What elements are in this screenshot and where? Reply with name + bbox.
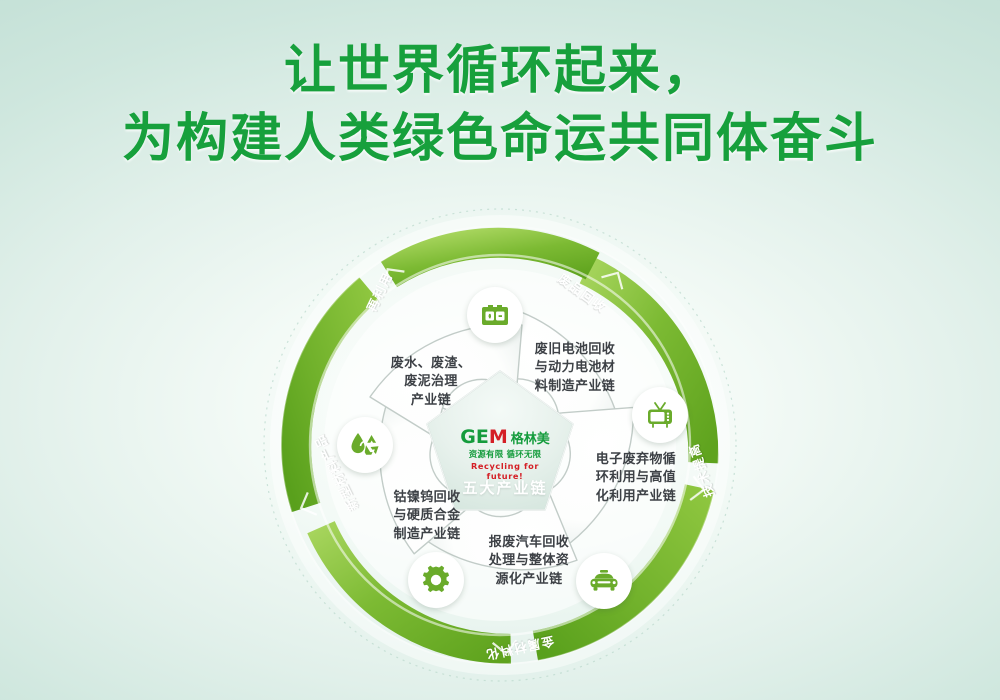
petal-label-vehicle: 报废汽车回收 处理与整体资 源化产业链 bbox=[474, 534, 584, 589]
title-line-2: 为构建人类绿色命运共同体奋斗 bbox=[0, 106, 1000, 174]
petal-label-electronics: 电子废弃物循 环利用与高值 化利用产业链 bbox=[584, 451, 688, 506]
water-recycle-icon bbox=[349, 430, 381, 460]
gem-logo: GEM 格林美 资源有限 循环无限 Recycling for future! bbox=[455, 428, 555, 481]
logo-wordmark-m: M bbox=[489, 426, 508, 448]
logo-brand-cn: 格林美 bbox=[511, 428, 550, 447]
center-label-five-chains: 五大产业链 bbox=[448, 477, 562, 498]
water-recycle-icon-bubble[interactable] bbox=[337, 417, 393, 473]
logo-wordmark: GEM bbox=[460, 428, 508, 447]
logo-wordmark-ge: GE bbox=[460, 426, 489, 448]
infographic-stage: 让世界循环起来， 为构建人类绿色命运共同体奋斗 bbox=[0, 0, 1000, 700]
title-line-1: 让世界循环起来， bbox=[0, 38, 1000, 106]
battery-icon bbox=[480, 302, 510, 328]
petal-label-waste-water: 废水、废渣、 废泥治理 产业链 bbox=[375, 355, 487, 410]
gear-icon bbox=[421, 565, 451, 595]
gear-icon-bubble[interactable] bbox=[408, 552, 464, 608]
car-icon bbox=[588, 569, 620, 593]
car-icon-bubble[interactable] bbox=[576, 553, 632, 609]
petal-label-battery: 废旧电池回收 与动力电池材 料制造产业链 bbox=[519, 341, 631, 396]
tv-icon-bubble[interactable] bbox=[632, 387, 688, 443]
battery-icon-bubble[interactable] bbox=[467, 287, 523, 343]
page-title: 让世界循环起来， 为构建人类绿色命运共同体奋斗 bbox=[0, 38, 1000, 173]
tv-icon bbox=[645, 400, 675, 430]
logo-slogan-cn: 资源有限 循环无限 bbox=[455, 448, 555, 460]
